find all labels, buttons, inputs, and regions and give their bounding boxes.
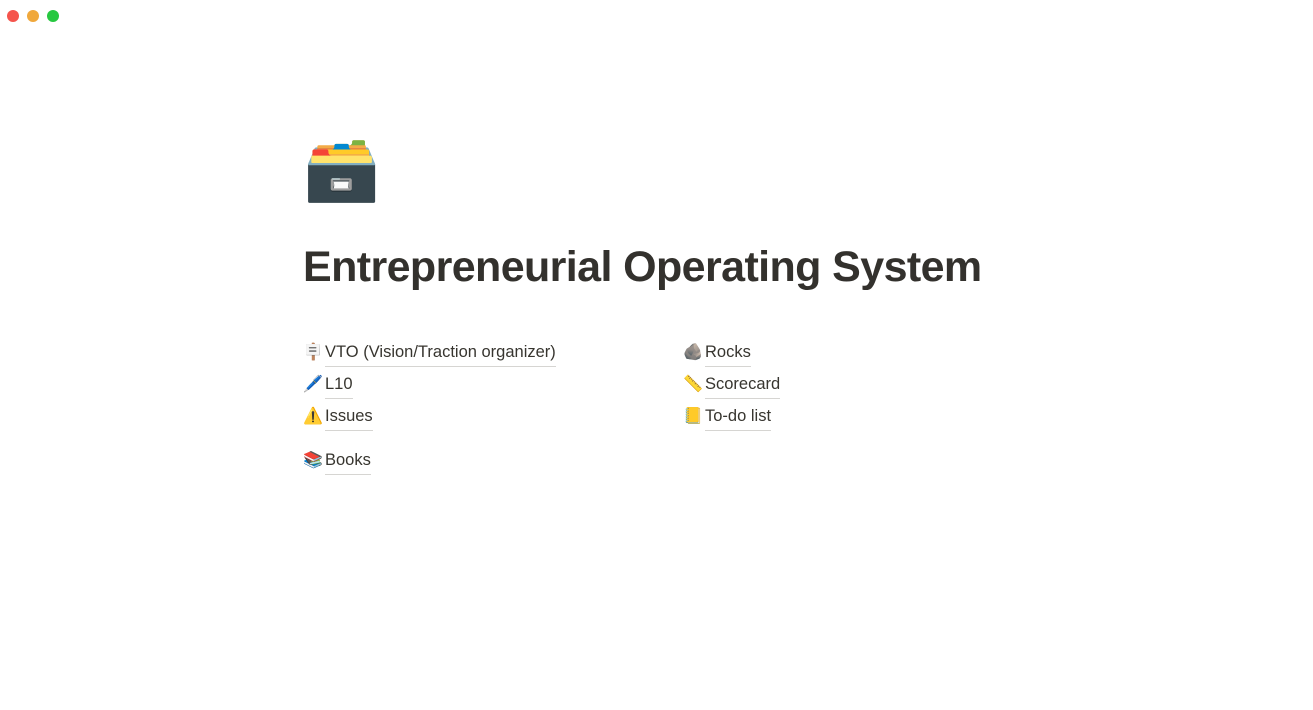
- window-titlebar: [0, 0, 1313, 32]
- list-item[interactable]: 🖊️ L10: [303, 368, 683, 400]
- list-item[interactable]: 🪨 Rocks: [683, 336, 1063, 368]
- warning-icon: ⚠️: [303, 400, 325, 432]
- minimize-window-button[interactable]: [27, 10, 39, 22]
- link-vto[interactable]: VTO (Vision/Traction organizer): [325, 339, 556, 367]
- link-l10[interactable]: L10: [325, 371, 353, 399]
- placard-icon: 🪧: [303, 336, 325, 368]
- link-column-right: 🪨 Rocks 📏 Scorecard 📒 To-do list: [683, 336, 1063, 432]
- link-rocks[interactable]: Rocks: [705, 339, 751, 367]
- maximize-window-button[interactable]: [47, 10, 59, 22]
- link-todo-list[interactable]: To-do list: [705, 403, 771, 431]
- close-window-button[interactable]: [7, 10, 19, 22]
- ruler-icon: 📏: [683, 368, 705, 400]
- page-title: Entrepreneurial Operating System: [303, 243, 982, 292]
- list-item[interactable]: 📒 To-do list: [683, 400, 1063, 432]
- pen-icon: 🖊️: [303, 368, 325, 400]
- document-page: 🗃️ Entrepreneurial Operating System 🪧 VT…: [0, 32, 1313, 710]
- window-controls: [0, 10, 59, 22]
- books-icon: 📚: [303, 444, 325, 476]
- list-item[interactable]: 📏 Scorecard: [683, 368, 1063, 400]
- link-columns: 🪧 VTO (Vision/Traction organizer) 🖊️ L10…: [303, 336, 1233, 476]
- link-scorecard[interactable]: Scorecard: [705, 371, 780, 399]
- list-item[interactable]: 🪧 VTO (Vision/Traction organizer): [303, 336, 683, 368]
- list-item[interactable]: 📚 Books: [303, 444, 683, 476]
- rock-icon: 🪨: [683, 336, 705, 368]
- link-books[interactable]: Books: [325, 447, 371, 475]
- link-issues[interactable]: Issues: [325, 403, 373, 431]
- link-column-left: 🪧 VTO (Vision/Traction organizer) 🖊️ L10…: [303, 336, 683, 476]
- card-index-box-icon[interactable]: 🗃️: [303, 138, 380, 200]
- list-item[interactable]: ⚠️ Issues: [303, 400, 683, 432]
- ledger-notebook-icon: 📒: [683, 400, 705, 432]
